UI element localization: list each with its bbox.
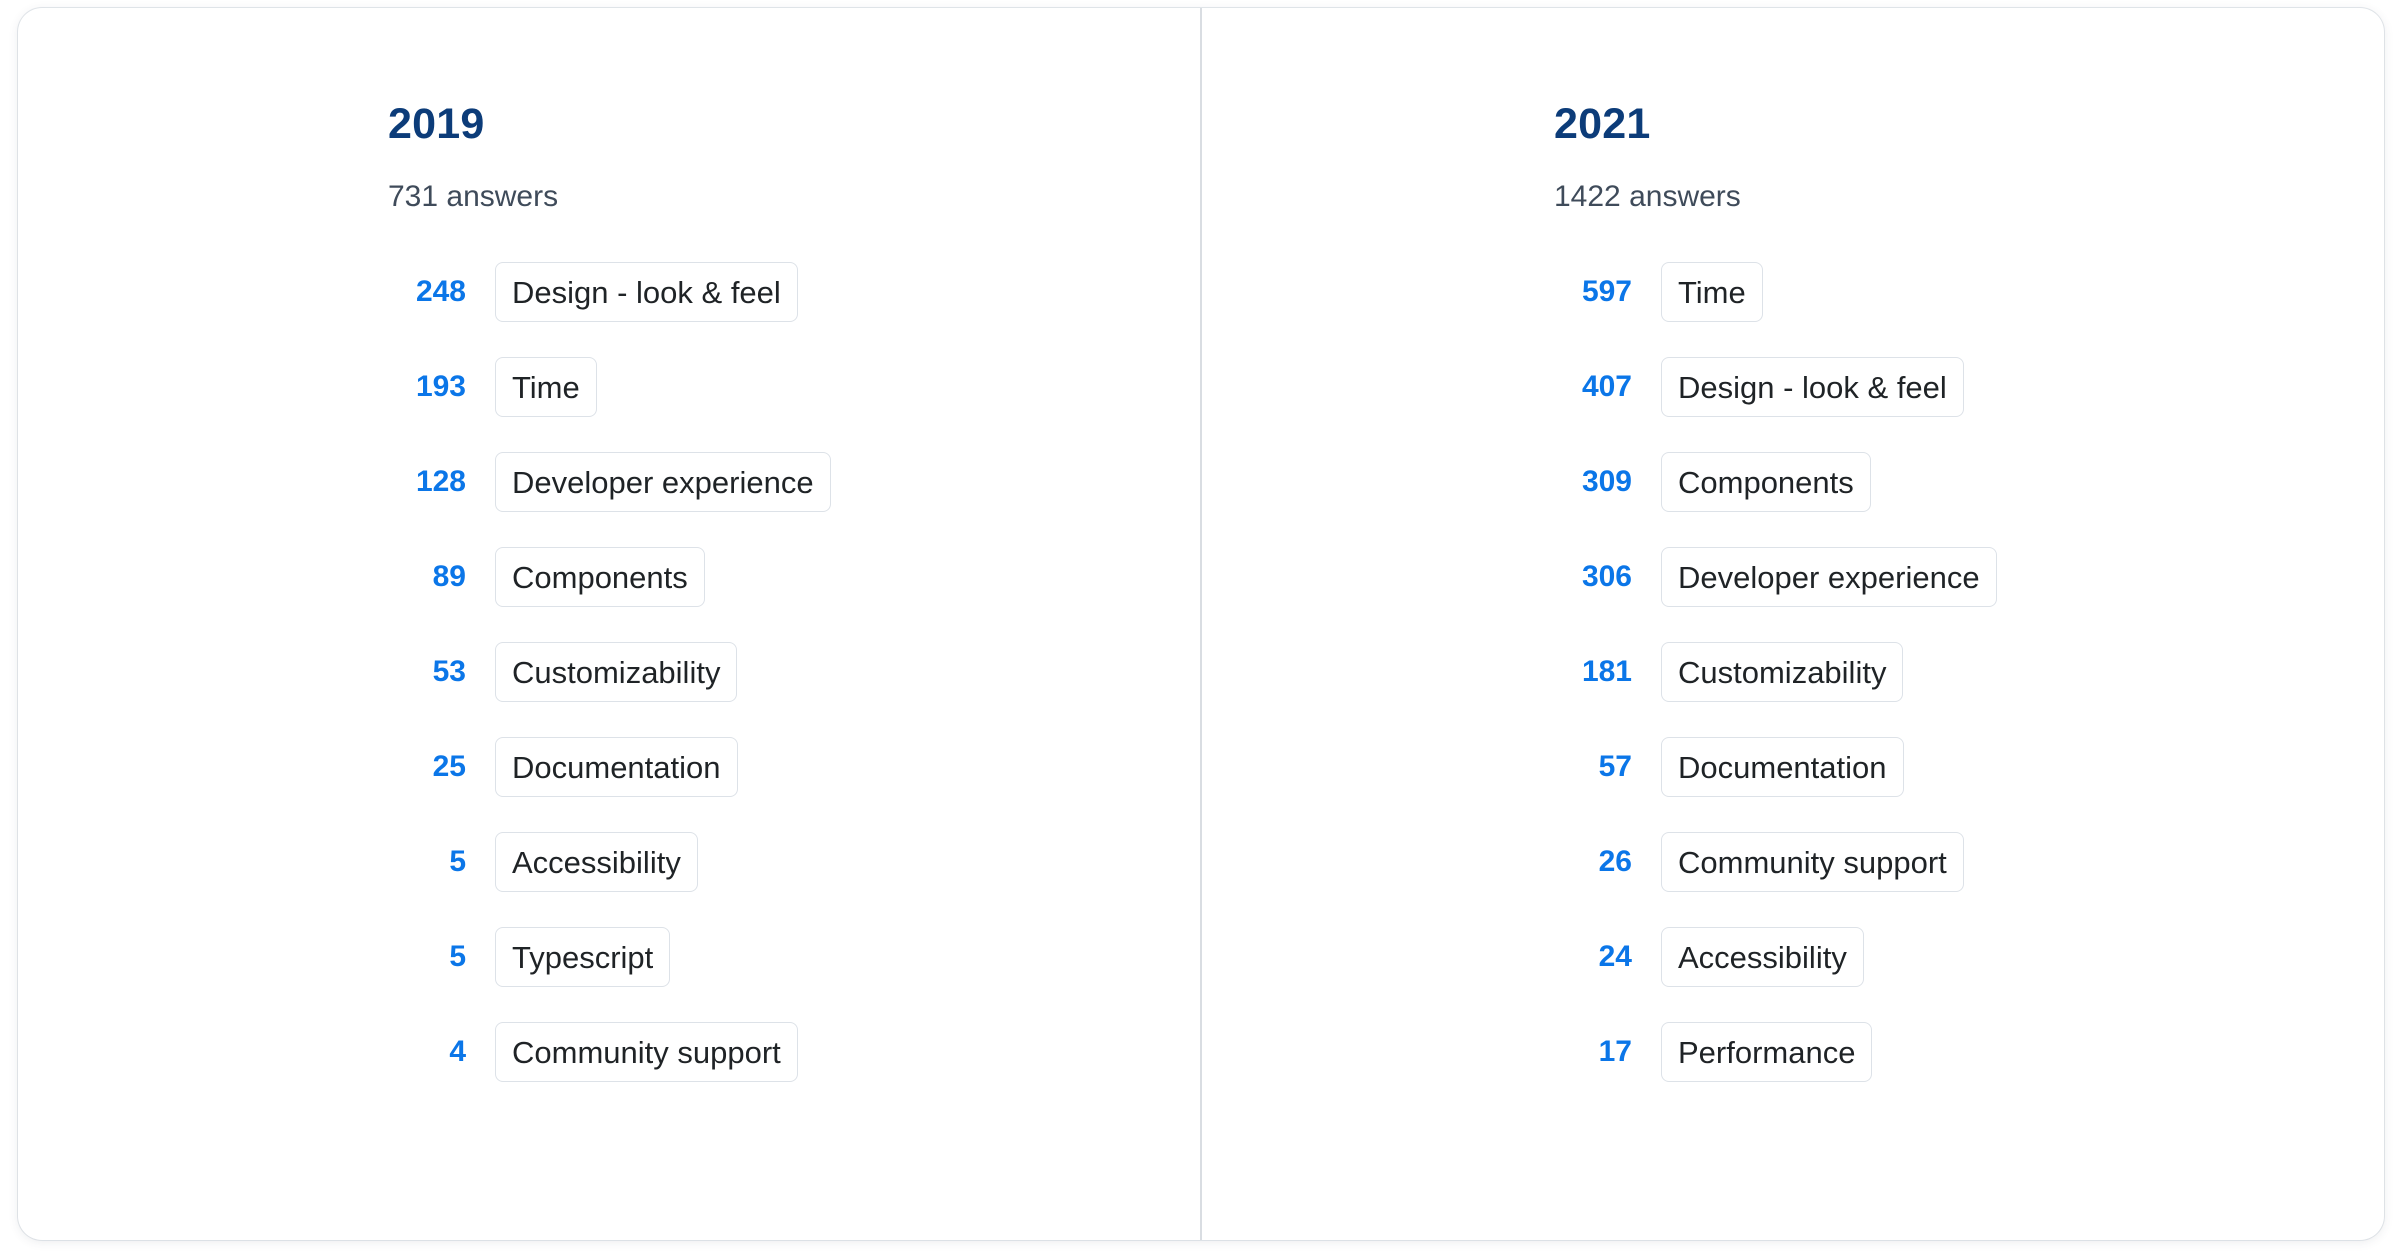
list-item[interactable]: 24 Accessibility — [1554, 926, 2364, 988]
result-count: 193 — [388, 372, 466, 402]
result-count: 24 — [1554, 942, 1632, 972]
list-item[interactable]: 5 Accessibility — [388, 831, 1180, 893]
result-count: 128 — [388, 467, 466, 497]
result-label-pill[interactable]: Time — [1661, 262, 1763, 322]
result-count: 89 — [388, 562, 466, 592]
result-label-pill[interactable]: Accessibility — [495, 832, 698, 892]
result-count: 26 — [1554, 847, 1632, 877]
list-item[interactable]: 4 Community support — [388, 1021, 1180, 1083]
result-label-pill[interactable]: Time — [495, 357, 597, 417]
comparison-card: 2019 731 answers 248 Design - look & fee… — [18, 8, 2384, 1240]
result-count: 4 — [388, 1037, 466, 1067]
list-item[interactable]: 193 Time — [388, 356, 1180, 418]
year-heading-2019: 2019 — [388, 103, 1180, 146]
result-label-pill[interactable]: Performance — [1661, 1022, 1872, 1082]
result-label-pill[interactable]: Documentation — [495, 737, 738, 797]
list-item[interactable]: 5 Typescript — [388, 926, 1180, 988]
result-label-pill[interactable]: Accessibility — [1661, 927, 1864, 987]
list-item[interactable]: 89 Components — [388, 546, 1180, 608]
result-count: 57 — [1554, 752, 1632, 782]
result-count: 306 — [1554, 562, 1632, 592]
result-label-pill[interactable]: Documentation — [1661, 737, 1904, 797]
result-count: 181 — [1554, 657, 1632, 687]
result-label-pill[interactable]: Components — [1661, 452, 1871, 512]
result-count: 17 — [1554, 1037, 1632, 1067]
list-item[interactable]: 309 Components — [1554, 451, 2364, 513]
result-label-pill[interactable]: Developer experience — [495, 452, 831, 512]
result-label-pill[interactable]: Community support — [1661, 832, 1964, 892]
results-list-2019: 248 Design - look & feel 193 Time 128 De… — [388, 261, 1180, 1083]
list-item[interactable]: 306 Developer experience — [1554, 546, 2364, 608]
result-count: 309 — [1554, 467, 1632, 497]
list-item[interactable]: 57 Documentation — [1554, 736, 2364, 798]
result-count: 248 — [388, 277, 466, 307]
result-label-pill[interactable]: Customizability — [495, 642, 737, 702]
result-count: 25 — [388, 752, 466, 782]
result-label-pill[interactable]: Design - look & feel — [495, 262, 798, 322]
result-label-pill[interactable]: Design - look & feel — [1661, 357, 1964, 417]
result-label-pill[interactable]: Components — [495, 547, 705, 607]
result-count: 597 — [1554, 277, 1632, 307]
list-item[interactable]: 597 Time — [1554, 261, 2364, 323]
result-label-pill[interactable]: Developer experience — [1661, 547, 1997, 607]
list-item[interactable]: 25 Documentation — [388, 736, 1180, 798]
list-item[interactable]: 53 Customizability — [388, 641, 1180, 703]
list-item[interactable]: 248 Design - look & feel — [388, 261, 1180, 323]
panel-2019: 2019 731 answers 248 Design - look & fee… — [18, 8, 1202, 1240]
list-item[interactable]: 128 Developer experience — [388, 451, 1180, 513]
list-item[interactable]: 181 Customizability — [1554, 641, 2364, 703]
list-item[interactable]: 17 Performance — [1554, 1021, 2364, 1083]
result-count: 53 — [388, 657, 466, 687]
list-item[interactable]: 26 Community support — [1554, 831, 2364, 893]
result-count: 5 — [388, 942, 466, 972]
list-item[interactable]: 407 Design - look & feel — [1554, 356, 2364, 418]
result-label-pill[interactable]: Community support — [495, 1022, 798, 1082]
answers-count-2019: 731 answers — [388, 182, 1180, 212]
answers-count-2021: 1422 answers — [1554, 182, 2364, 212]
result-label-pill[interactable]: Customizability — [1661, 642, 1903, 702]
result-label-pill[interactable]: Typescript — [495, 927, 670, 987]
results-list-2021: 597 Time 407 Design - look & feel 309 Co… — [1554, 261, 2364, 1083]
panel-2021: 2021 1422 answers 597 Time 407 Design - … — [1202, 8, 2384, 1240]
year-heading-2021: 2021 — [1554, 103, 2364, 146]
result-count: 5 — [388, 847, 466, 877]
result-count: 407 — [1554, 372, 1632, 402]
